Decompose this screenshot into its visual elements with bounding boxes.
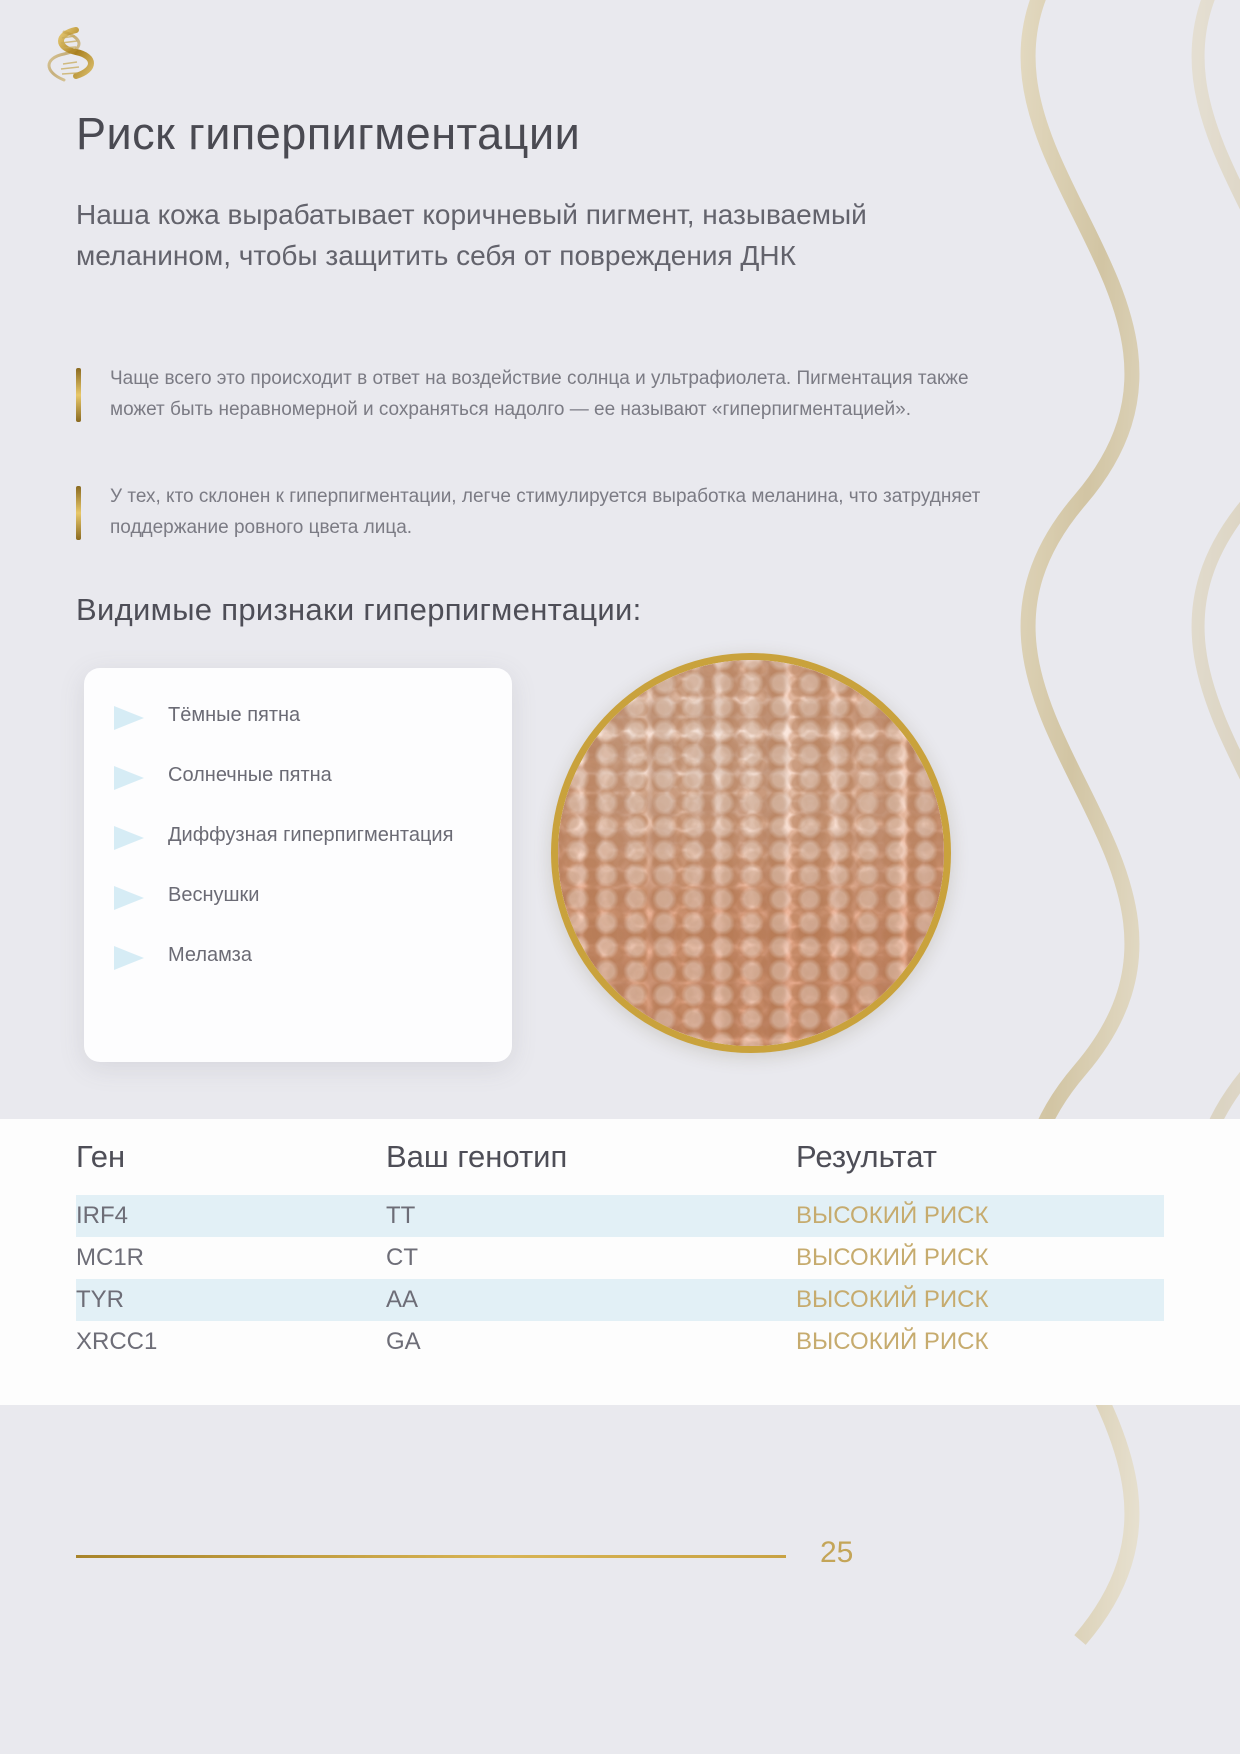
cell-genotype: CT (386, 1244, 796, 1272)
report-page: Риск гиперпигментации Наша кожа вырабаты… (0, 0, 1240, 1754)
quote-block-2: У тех, кто склонен к гиперпигментации, л… (76, 482, 1006, 544)
intro-paragraph: Наша кожа вырабатывает коричневый пигмен… (76, 194, 956, 277)
cell-genotype: AA (386, 1286, 796, 1314)
table-bottom-spacer (76, 1363, 1164, 1405)
quote-block-1: Чаще всего это происходит в ответ на воз… (76, 364, 1006, 426)
cell-genotype: GA (386, 1328, 796, 1356)
photo-texture-layer (558, 660, 944, 1046)
table-row: TYR AA ВЫСОКИЙ РИСК (76, 1279, 1164, 1321)
signs-section-title: Видимые признаки гиперпигментации: (76, 592, 642, 628)
column-header-result: Результат (796, 1139, 1164, 1175)
list-item: Меламза (114, 942, 482, 972)
cell-gene: XRCC1 (76, 1328, 386, 1356)
page-number: 25 (820, 1536, 853, 1570)
footer-divider (76, 1555, 786, 1558)
status-badge: ВЫСОКИЙ РИСК (796, 1286, 1164, 1314)
list-item: Солнечные пятна (114, 762, 482, 792)
column-header-genotype: Ваш генотип (386, 1139, 796, 1175)
cell-gene: TYR (76, 1286, 386, 1314)
table-header-row: Ген Ваш генотип Результат (76, 1119, 1164, 1195)
page-title: Риск гиперпигментации (76, 108, 580, 160)
gene-results-table: Ген Ваш генотип Результат IRF4 TT ВЫСОКИ… (0, 1119, 1240, 1405)
cell-gene: IRF4 (76, 1202, 386, 1230)
list-item-label: Тёмные пятна (168, 702, 300, 729)
list-item-label: Солнечные пятна (168, 762, 332, 789)
status-badge: ВЫСОКИЙ РИСК (796, 1244, 1164, 1272)
list-item-label: Меламза (168, 942, 252, 969)
triangle-right-icon (114, 824, 148, 852)
triangle-right-icon (114, 884, 148, 912)
list-item: Веснушки (114, 882, 482, 912)
visible-signs-card: Тёмные пятна Солнечные пятна Диффузная г… (84, 668, 512, 1062)
list-item-label: Диффузная гиперпигментация (168, 822, 453, 849)
status-badge: ВЫСОКИЙ РИСК (796, 1202, 1164, 1230)
cell-genotype: TT (386, 1202, 796, 1230)
page-footer: 25 (0, 1536, 1240, 1576)
list-item: Диффузная гиперпигментация (114, 822, 482, 852)
column-header-gene: Ген (76, 1139, 386, 1175)
cell-gene: MC1R (76, 1244, 386, 1272)
triangle-right-icon (114, 944, 148, 972)
skin-closeup-photo (551, 653, 951, 1053)
table-row: XRCC1 GA ВЫСОКИЙ РИСК (76, 1321, 1164, 1363)
list-item-label: Веснушки (168, 882, 259, 909)
table-row: MC1R CT ВЫСОКИЙ РИСК (76, 1237, 1164, 1279)
triangle-right-icon (114, 704, 148, 732)
triangle-right-icon (114, 764, 148, 792)
list-item: Тёмные пятна (114, 702, 482, 732)
table-row: IRF4 TT ВЫСОКИЙ РИСК (76, 1195, 1164, 1237)
dna-helix-icon (42, 24, 98, 90)
status-badge: ВЫСОКИЙ РИСК (796, 1328, 1164, 1356)
